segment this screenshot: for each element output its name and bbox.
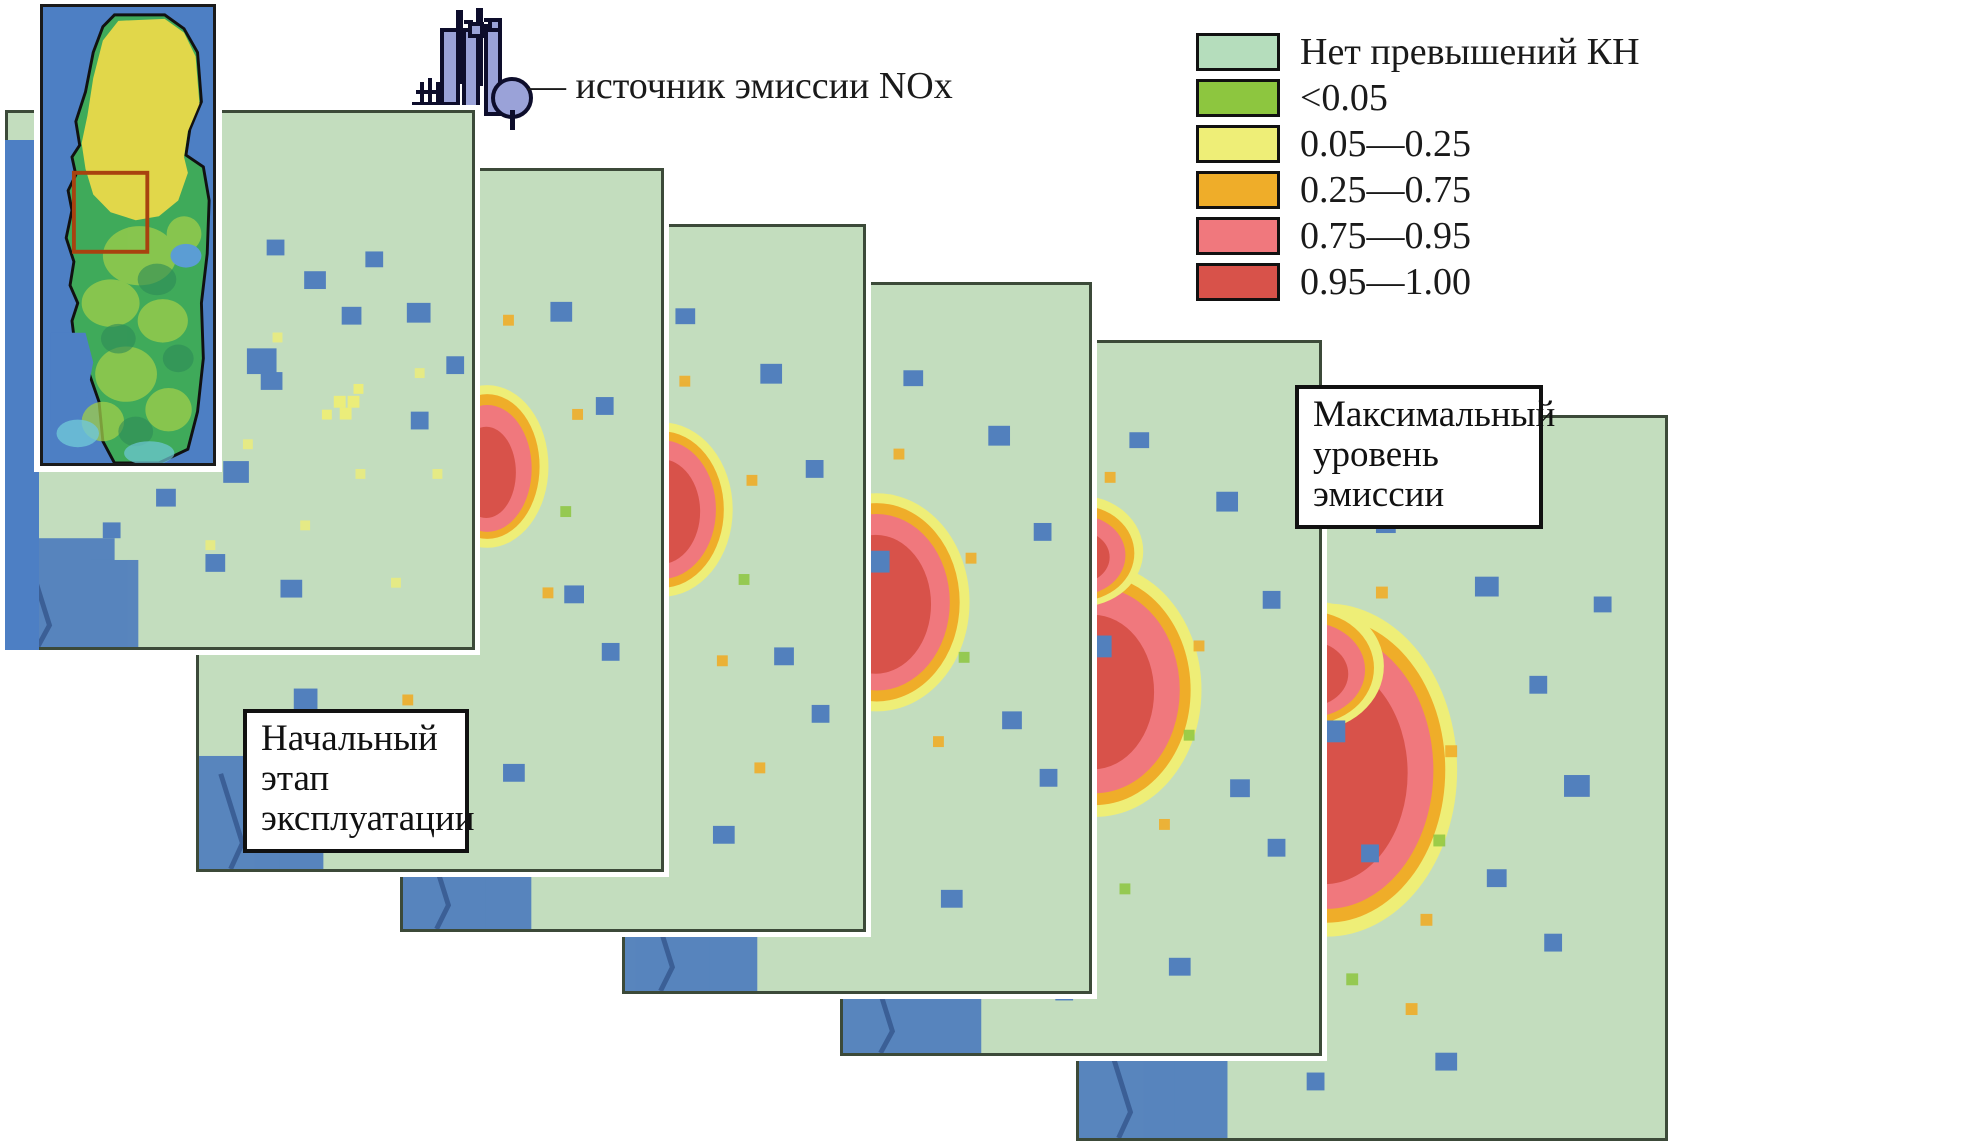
legend-swatch-lt-005: [1196, 79, 1280, 117]
legend-label: Нет превышений КН: [1300, 33, 1640, 71]
callout-initial-stage: Начальный этап эксплуатации: [243, 709, 469, 853]
legend-swatch-no-exceedance: [1196, 33, 1280, 71]
legend-label: 0.75—0.95: [1300, 217, 1471, 255]
figure-stage: — источник эмиссии NOx Начальный этап эк…: [0, 0, 1971, 1143]
legend-row[interactable]: <0.05: [1196, 76, 1971, 120]
legend-swatch-005-025: [1196, 125, 1280, 163]
source-caption: — источник эмиссии NOx: [528, 64, 953, 108]
legend-row[interactable]: 0.05—0.25: [1196, 122, 1971, 166]
callout-maximum-emission: Максимальный уровень эмиссии: [1295, 385, 1543, 529]
legend-swatch-025-075: [1196, 171, 1280, 209]
locator-map-graphic: [43, 7, 213, 463]
legend-label: 0.25—0.75: [1300, 171, 1471, 209]
legend-swatch-095-100: [1196, 263, 1280, 301]
legend-label: 0.95—1.00: [1300, 263, 1471, 301]
legend-label: 0.05—0.25: [1300, 125, 1471, 163]
legend-swatch-075-095: [1196, 217, 1280, 255]
reference-locator-map[interactable]: [40, 4, 216, 466]
ocean-strip: [5, 140, 39, 650]
legend-row[interactable]: 0.25—0.75: [1196, 168, 1971, 212]
legend-row[interactable]: 0.75—0.95: [1196, 214, 1971, 258]
legend: Нет превышений КН <0.05 0.05—0.25 0.25—0…: [1196, 30, 1971, 306]
legend-label: <0.05: [1300, 79, 1388, 117]
legend-row[interactable]: Нет превышений КН: [1196, 30, 1971, 74]
legend-row[interactable]: 0.95—1.00: [1196, 260, 1971, 304]
